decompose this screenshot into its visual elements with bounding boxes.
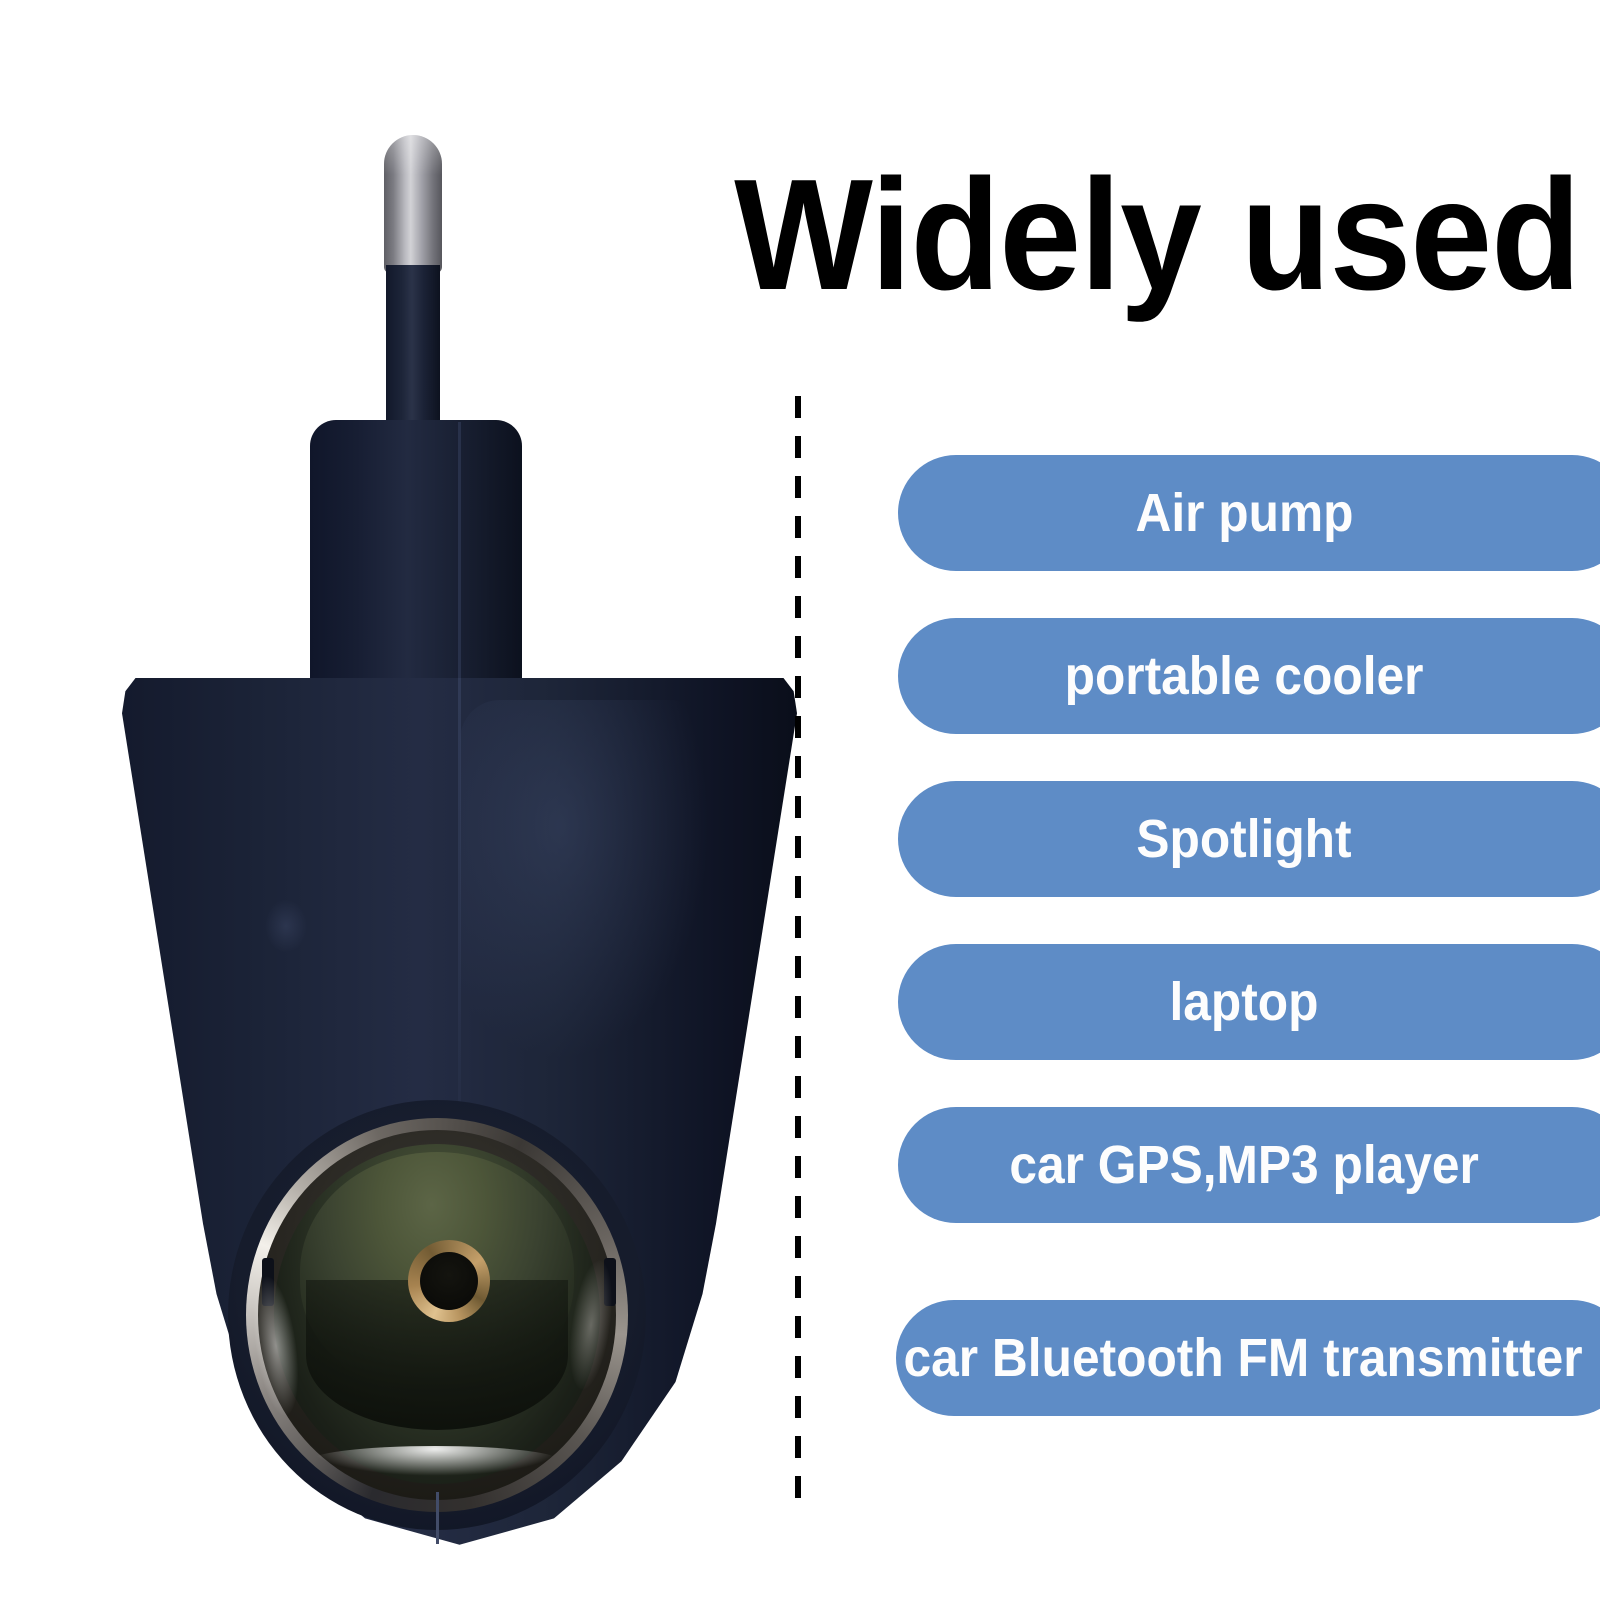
usage-pill-label: Air pump bbox=[1135, 486, 1353, 540]
product-image-car-lighter-adapter bbox=[60, 100, 800, 1560]
usage-pill-label: Spotlight bbox=[1136, 812, 1351, 866]
usage-pill-portable-cooler: portable cooler bbox=[898, 618, 1600, 734]
infographic-page: Widely used Air pump portable cooler Spo… bbox=[0, 0, 1600, 1600]
adapter-body-speck bbox=[265, 900, 307, 952]
usage-pill-air-pump: Air pump bbox=[898, 455, 1600, 571]
adapter-bottom-seam bbox=[436, 1492, 439, 1544]
usage-pill-label: car Bluetooth FM transmitter bbox=[903, 1331, 1582, 1385]
usage-pill-label: portable cooler bbox=[1065, 649, 1424, 703]
socket-center-hole bbox=[420, 1252, 478, 1310]
socket-chrome-glint-bottom bbox=[310, 1446, 560, 1476]
plug-neck-seam bbox=[458, 422, 461, 684]
usage-pill-car-gps-mp3-player: car GPS,MP3 player bbox=[898, 1107, 1600, 1223]
adapter-body-sheen bbox=[460, 700, 710, 1060]
dashed-vertical-divider bbox=[795, 396, 801, 1514]
usage-pill-laptop: laptop bbox=[898, 944, 1600, 1060]
page-title: Widely used bbox=[724, 150, 1580, 320]
usage-pill-car-bluetooth-fm-transmitter: car Bluetooth FM transmitter bbox=[896, 1300, 1600, 1416]
usage-pill-label: car GPS,MP3 player bbox=[1009, 1138, 1478, 1192]
usage-pill-spotlight: Spotlight bbox=[898, 781, 1600, 897]
usage-pill-label: laptop bbox=[1169, 975, 1318, 1029]
plug-neck bbox=[310, 420, 522, 690]
plug-pin-shaft bbox=[386, 265, 440, 435]
plug-pin-highlight bbox=[384, 135, 442, 175]
